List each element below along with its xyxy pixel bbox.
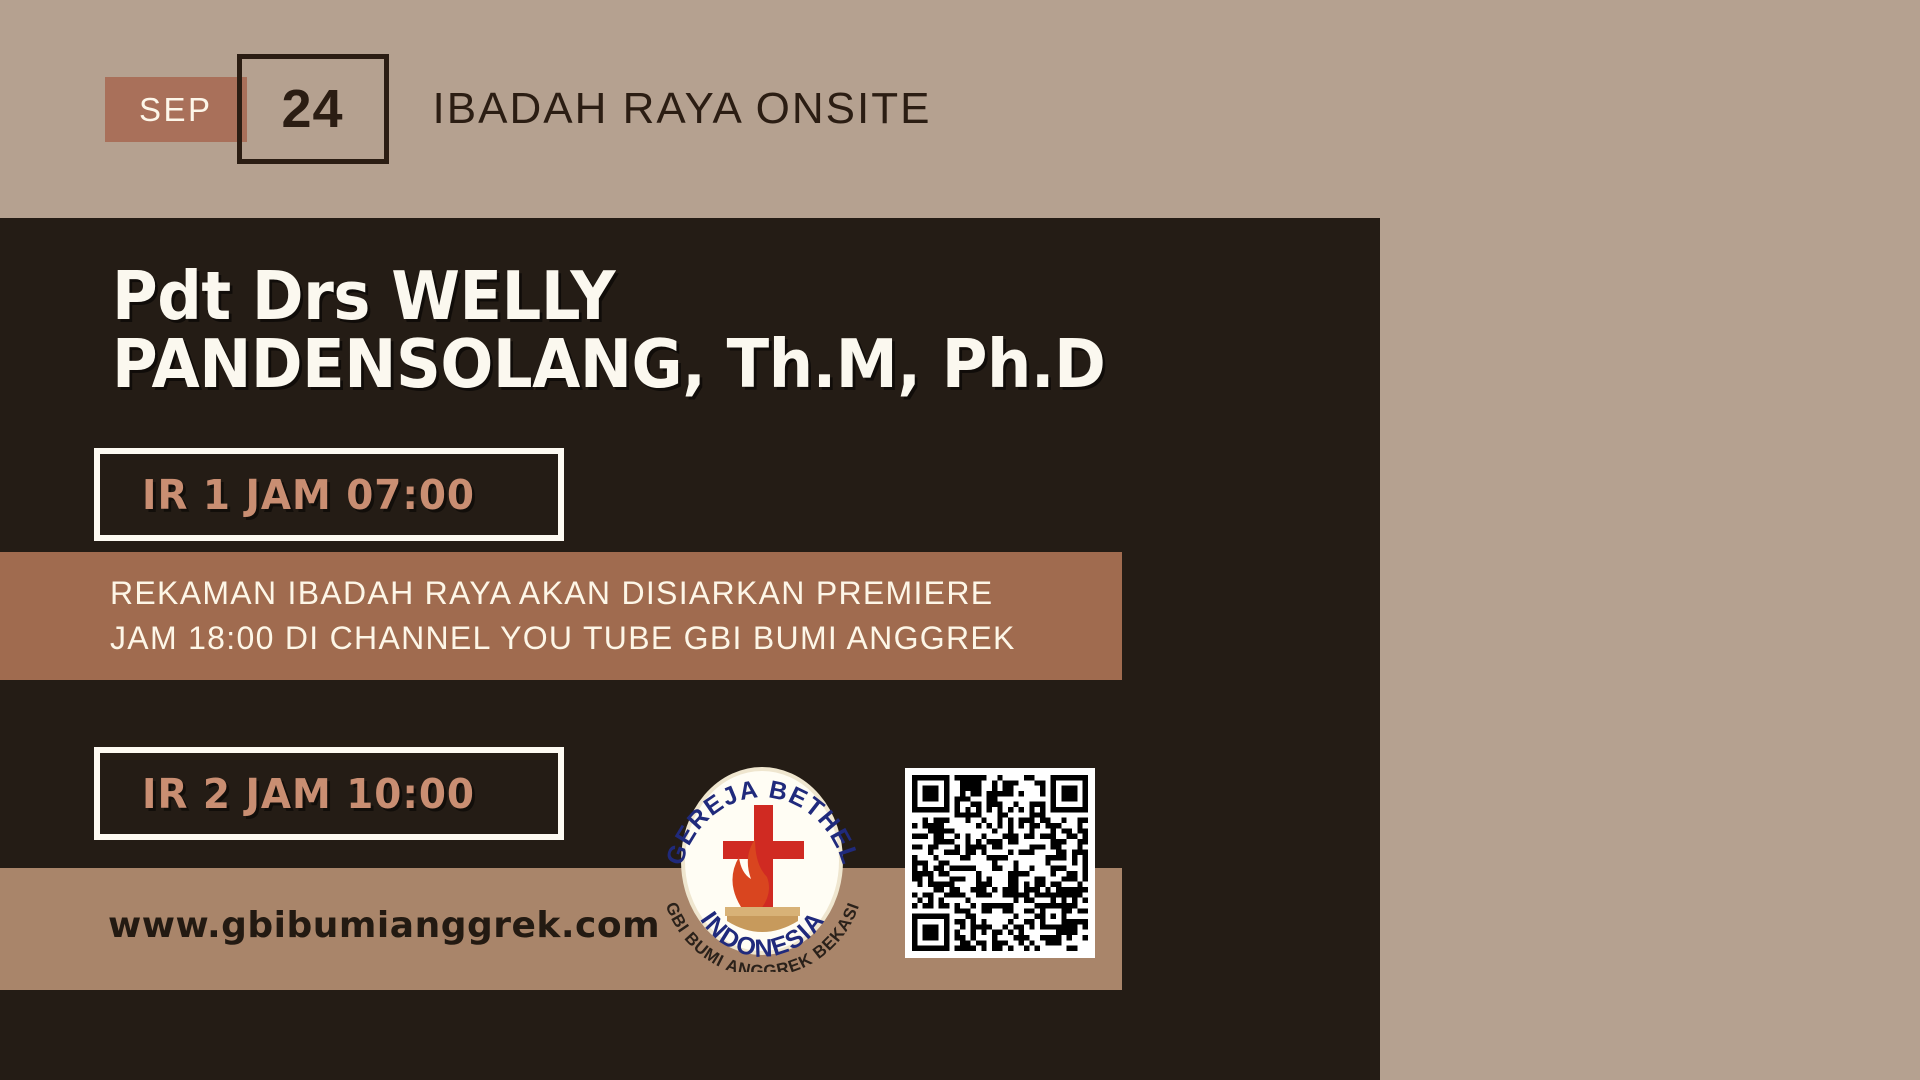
event-poster: SEP 24 IBADAH RAYA ONSITE Pdt Drs WELLY … (0, 0, 1920, 1080)
website-url[interactable]: www.gbibumianggrek.com (108, 905, 660, 946)
month-badge: SEP (105, 77, 247, 142)
announcement-line1: REKAMAN IBADAH RAYA AKAN DISIARKAN PREMI… (110, 571, 1122, 616)
service-time-2-label: IR 2 JAM 10:00 (142, 770, 475, 818)
gbi-logo: GEREJA BETHEL INDONESIA GBI BUMI ANGGREK… (655, 757, 870, 972)
event-type-title: IBADAH RAYA ONSITE (433, 84, 932, 134)
service-time-1-label: IR 1 JAM 07:00 (142, 471, 475, 519)
event-date-header: SEP 24 IBADAH RAYA ONSITE (0, 0, 1380, 218)
speaker-name: Pdt Drs WELLY PANDENSOLANG, Th.M, Ph.D (112, 262, 1105, 399)
gbi-logo-icon: GEREJA BETHEL INDONESIA GBI BUMI ANGGREK… (655, 757, 870, 972)
announcement-banner: REKAMAN IBADAH RAYA AKAN DISIARKAN PREMI… (0, 552, 1122, 680)
service-time-2: IR 2 JAM 10:00 (94, 747, 564, 840)
speaker-name-line1: Pdt Drs WELLY (112, 262, 1105, 330)
qr-code-image (912, 775, 1088, 951)
day-badge: 24 (237, 54, 389, 164)
service-time-1: IR 1 JAM 07:00 (94, 448, 564, 541)
announcement-line2: JAM 18:00 DI CHANNEL YOU TUBE GBI BUMI A… (110, 616, 1122, 661)
speaker-name-line2: PANDENSOLANG, Th.M, Ph.D (112, 330, 1105, 398)
qr-code[interactable] (905, 768, 1095, 958)
